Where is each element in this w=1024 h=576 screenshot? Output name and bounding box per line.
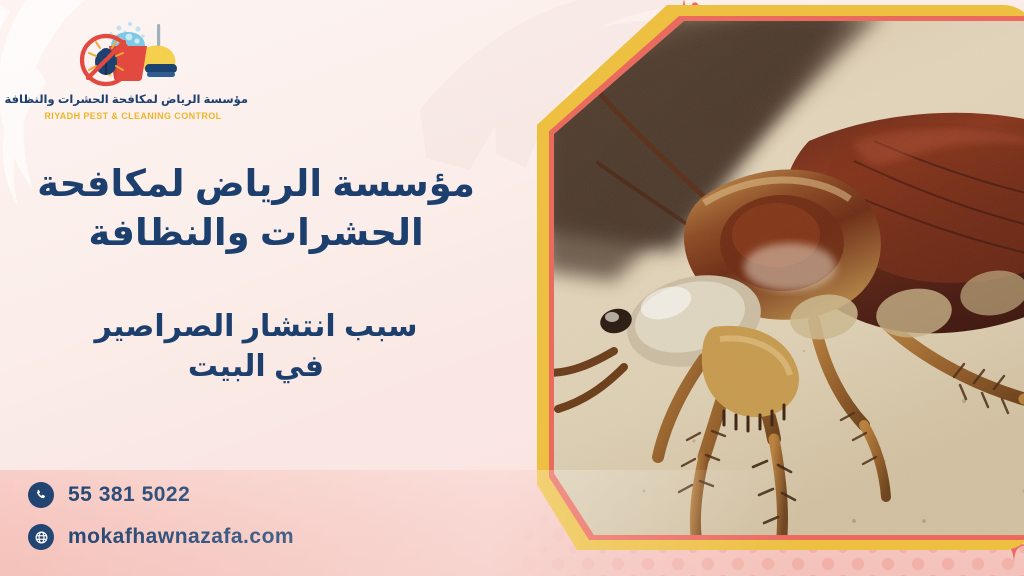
headline-line-2: الحشرات والنظافة <box>36 209 476 258</box>
photo-frame-inner <box>549 16 1024 540</box>
contact-info: 55 381 5022 mokafhawnazafa.com <box>28 482 294 566</box>
cockroach-photo <box>554 21 1024 535</box>
page-subtitle: سبب انتشار الصراصير في البيت <box>36 307 476 387</box>
pest-cleaning-logo-icon <box>73 20 193 90</box>
subhead-line-1: سبب انتشار الصراصير <box>36 307 476 347</box>
headline-line-1: مؤسسة الرياض لمكافحة <box>36 160 476 209</box>
globe-icon <box>28 524 54 550</box>
page-title: مؤسسة الرياض لمكافحة الحشرات والنظافة <box>36 160 476 258</box>
contact-website-row[interactable]: mokafhawnazafa.com <box>28 524 294 550</box>
promo-banner: مؤسسة الرياض لمكافحة الحشرات والنظافة RI… <box>0 0 1024 576</box>
brand-logo[interactable]: مؤسسة الرياض لمكافحة الحشرات والنظافة RI… <box>18 20 248 121</box>
logo-arabic-name: مؤسسة الرياض لمكافحة الحشرات والنظافة <box>18 94 248 108</box>
photo-frame-outer <box>537 5 1024 550</box>
phone-icon <box>28 482 54 508</box>
website-url: mokafhawnazafa.com <box>68 525 294 549</box>
phone-number: 55 381 5022 <box>68 483 190 507</box>
logo-english-name: RIYADH PEST & CLEANING CONTROL <box>18 111 248 121</box>
contact-phone-row[interactable]: 55 381 5022 <box>28 482 294 508</box>
subhead-line-2: في البيت <box>36 347 476 387</box>
